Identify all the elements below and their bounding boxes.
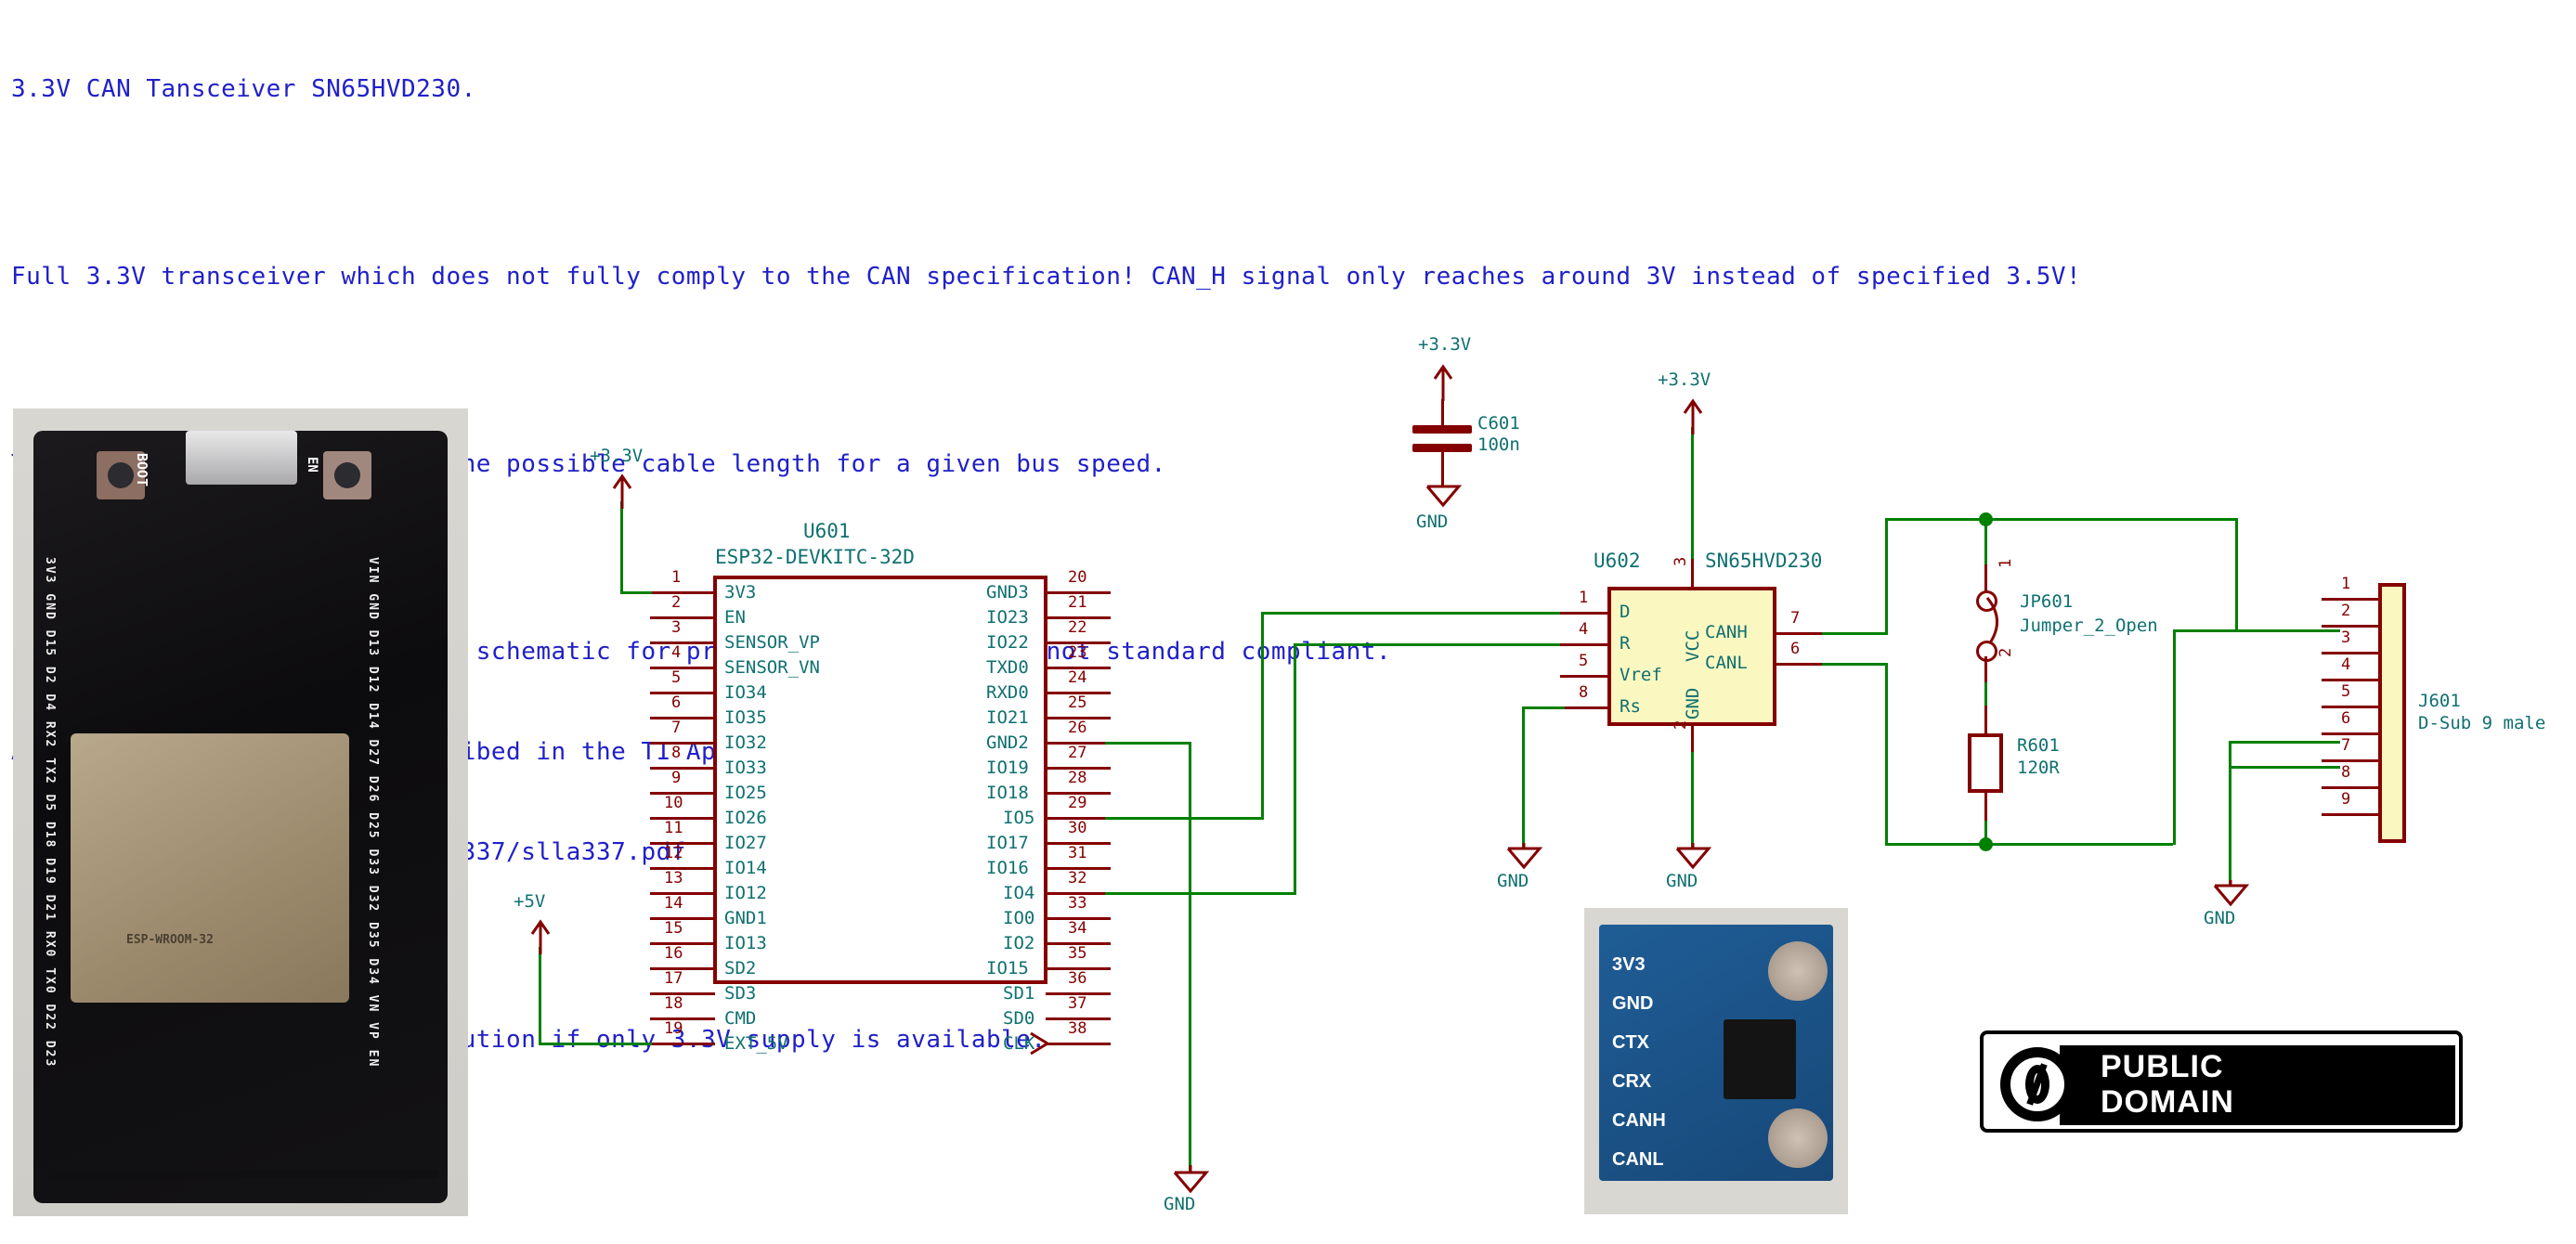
c601-ref: C601 — [1477, 413, 1520, 434]
module-label-ctx: CTX — [1612, 1023, 1666, 1062]
note-spacer — [11, 360, 2333, 381]
badge-line2: DOMAIN — [2101, 1084, 2234, 1120]
gnd-label-cap: GND — [1416, 512, 1448, 532]
u602-pin6-num: 6 — [1790, 640, 1800, 658]
u602-pin4-num: 4 — [1579, 620, 1588, 639]
r601-value: 120R — [2017, 758, 2060, 778]
gnd-symbol-j601 — [2212, 880, 2249, 908]
mount-hole-bottom — [1768, 1108, 1828, 1168]
wire-canl-to-j601-horiz — [2229, 741, 2340, 744]
jp601-open-arc — [1985, 594, 2013, 648]
mount-hole-top — [1768, 941, 1828, 1001]
gnd-label-j601: GND — [2204, 908, 2235, 928]
r601-top-lead — [1984, 706, 1987, 735]
badge-line1: PUBLIC — [2101, 1049, 2234, 1084]
cc-zero-icon — [2000, 1047, 2075, 1121]
wire-esp-5v-vert — [539, 947, 541, 1043]
module-label-canh: CANH — [1612, 1101, 1666, 1140]
note-line: Full 3.3V transceiver which does not ful… — [11, 260, 2333, 293]
jp601-pin1-num: 1 — [1997, 559, 2015, 568]
junction-dot-canh — [1979, 512, 1993, 526]
power-label-3v3-u602: +3.3V — [1658, 369, 1711, 390]
jp601-value: Jumper_2_Open — [2020, 616, 2158, 636]
en-silkscreen: EN — [305, 457, 319, 473]
bottom-edge — [48, 1170, 438, 1179]
can-transceiver-module-photo: 3V3 GND CTX CRX CANH CANL — [1584, 908, 1848, 1214]
usb-connector — [186, 431, 297, 485]
module-label-gnd: GND — [1612, 984, 1666, 1023]
u602-pin7-num: 7 — [1790, 609, 1800, 628]
cap-bottom-lead — [1441, 452, 1444, 486]
u602-ref: U602 — [1594, 550, 1641, 572]
wire-rs-vert — [1522, 706, 1525, 848]
gnd-label-esp: GND — [1164, 1194, 1195, 1214]
wire-u602-vcc — [1691, 427, 1694, 559]
power-arrow-3v3-esp — [609, 473, 635, 511]
boot-silkscreen: BOOT — [134, 453, 150, 486]
module-label-canl: CANL — [1612, 1140, 1666, 1179]
u602-pin3-num: 3 — [1672, 557, 1690, 566]
wire-esp-5v-horiz — [539, 1043, 652, 1045]
note-line: 3.3V CAN Tansceiver SN65HVD230. — [11, 72, 2333, 106]
wire-io4-h1 — [1105, 892, 1296, 895]
wire-canl-bottom-rail — [1885, 843, 2173, 846]
u601-ref: U601 — [803, 520, 851, 542]
c601-plate-top — [1412, 425, 1472, 434]
u602-pin2-num: 2 — [1672, 720, 1690, 730]
power-arrow-5v-esp — [527, 919, 553, 956]
wire-j601-pin7-horiz — [2229, 766, 2340, 769]
jp601-ref: JP601 — [2020, 591, 2073, 612]
wire-io5-vert — [1261, 612, 1264, 820]
wire-canh-vert — [1885, 518, 1888, 635]
c601-plate-bottom — [1412, 444, 1472, 452]
en-button[interactable] — [323, 451, 371, 499]
module-label-crx: CRX — [1612, 1062, 1666, 1101]
esp32-board-photo: BOOT EN ESP-WROOM-32 3V3 GND D15 D2 D4 R… — [13, 408, 468, 1216]
power-arrow-3v3-u602 — [1680, 397, 1706, 436]
u602-pin6-name: CANL — [1705, 653, 1748, 673]
jp601-pin2-num: 2 — [1997, 648, 2015, 657]
module-silkscreen: 3V3 GND CTX CRX CANH CANL — [1612, 945, 1666, 1179]
power-label-5v-esp: +5V — [514, 891, 545, 912]
right-header — [384, 548, 412, 1086]
j601-symbol-body — [2378, 583, 2406, 843]
gnd-label-rs: GND — [1497, 871, 1529, 891]
note-spacer — [11, 173, 2333, 193]
wire-canl-vert — [1885, 663, 1888, 846]
u602-pin4-name: R — [1620, 633, 1630, 654]
power-arrow-3v3-cap — [1430, 362, 1456, 403]
gnd-symbol-rs — [1505, 843, 1542, 871]
module-marking: ESP-WROOM-32 — [126, 933, 214, 947]
r601-ref: R601 — [2017, 735, 2060, 756]
u602-pin2-stub — [1691, 724, 1694, 756]
esp-wroom-module: ESP-WROOM-32 — [71, 733, 349, 1003]
u602-value: SN65HVD230 — [1705, 550, 1822, 572]
gnd-label-u602: GND — [1666, 871, 1698, 891]
module-label-3v3: 3V3 — [1612, 945, 1666, 984]
u602-pin5-name: Vref — [1620, 665, 1662, 685]
wire-gnd2-vert — [1189, 742, 1191, 1171]
wire-canl-h1 — [1822, 663, 1887, 666]
u602-pin3-name: VCC — [1683, 630, 1703, 662]
wire-canl-to-j601-vert — [2173, 629, 2176, 845]
u602-pin5-num: 5 — [1579, 652, 1588, 670]
wire-rs-horiz — [1522, 706, 1565, 709]
r601-bottom-lead — [1984, 791, 1987, 821]
junction-dot-canl — [1979, 837, 1993, 851]
r601-body — [1968, 733, 2003, 793]
right-silkscreen-labels: VIN GND D13 D12 D14 D27 D26 D25 D33 D32 … — [366, 557, 380, 1068]
left-silkscreen-labels: 3V3 GND D15 D2 D4 RX2 TX2 D5 D18 D19 D21… — [43, 557, 57, 1068]
u602-pin1-name: D — [1620, 602, 1630, 622]
c601-value: 100n — [1477, 434, 1520, 455]
u602-pin2-name: GND — [1683, 688, 1703, 719]
wire-j601-gnd-stub — [2229, 741, 2231, 769]
wire-u602-gnd — [1691, 752, 1694, 848]
wire-canh-to-j601-vert — [2235, 518, 2238, 631]
wire-canh-to-j601-horiz — [2173, 629, 2340, 632]
u602-pin8-name: Rs — [1620, 696, 1641, 717]
j601-ref: J601 — [2418, 691, 2461, 711]
power-label-3v3-cap: +3.3V — [1418, 334, 1471, 355]
public-domain-badge: PUBLIC DOMAIN — [1980, 1030, 2463, 1133]
wire-canh-top-rail — [1885, 518, 2238, 521]
u602-pin1-num: 1 — [1579, 589, 1588, 607]
soic-chip — [1724, 1019, 1796, 1099]
wire-esp-3v3-horiz — [620, 591, 652, 594]
wire-gnd2-horiz — [1105, 742, 1189, 745]
u602-pin7-name: CANH — [1705, 622, 1748, 642]
power-label-3v3-esp: +3.3V — [590, 446, 643, 466]
wire-io5-h1 — [1105, 817, 1263, 820]
u601-value: ESP32-DEVKITC-32D — [715, 546, 915, 568]
u602-pin3-stub — [1691, 557, 1694, 589]
gnd-symbol-cap — [1425, 483, 1462, 511]
wire-io4-vert — [1294, 643, 1296, 895]
wire-j601-gnd-down — [2229, 766, 2231, 885]
clk-input-marker — [1029, 1031, 1049, 1056]
j601-value: D-Sub 9 male — [2418, 713, 2545, 733]
gnd-symbol-esp — [1172, 1165, 1209, 1193]
wire-esp-3v3-vert — [620, 501, 623, 591]
u602-pin8-num: 8 — [1579, 683, 1588, 702]
wire-canh-h1 — [1822, 632, 1887, 635]
gnd-symbol-u602 — [1674, 843, 1711, 871]
